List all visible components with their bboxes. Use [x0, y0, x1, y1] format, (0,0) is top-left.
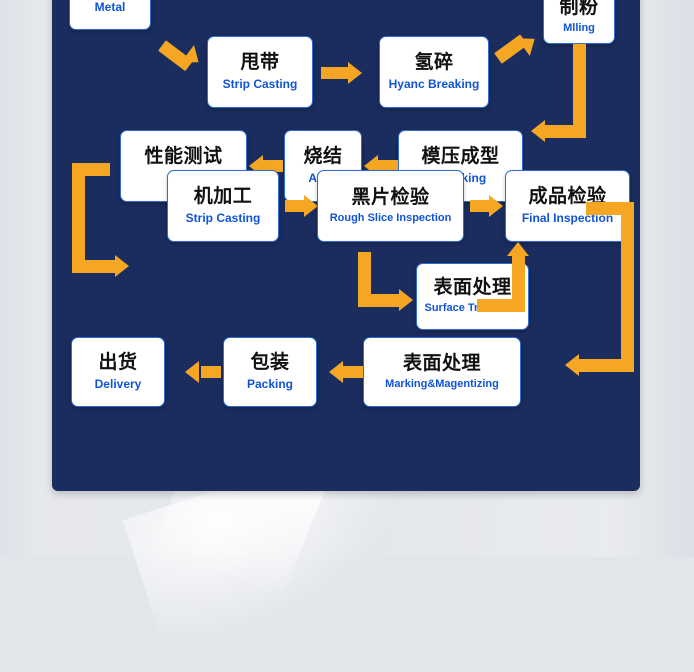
flow-node-strip-casting[interactable]: 甩带 Strip Casting	[207, 36, 313, 108]
arrowhead-icon	[399, 289, 413, 311]
connector-rough-slice-to-final-inspection	[470, 195, 504, 217]
flow-node-hyanc-breaking-en: Hyanc Breaking	[389, 77, 480, 91]
flow-node-marking-cn: 表面处理	[403, 353, 481, 375]
arrowhead-icon	[304, 195, 318, 217]
connector-packing-to-delivery	[185, 361, 221, 383]
connector-surface-treatment-to-final-inspection	[477, 242, 539, 312]
arrowhead-icon	[185, 361, 199, 383]
flow-node-delivery-cn: 出货	[98, 352, 137, 374]
arrowhead-icon	[329, 361, 343, 383]
flow-node-packing[interactable]: 包装 Packing	[223, 337, 317, 407]
flow-node-marking[interactable]: 表面处理 Marking&Magentizing	[363, 337, 521, 407]
connector-metal-to-strip-casting	[160, 33, 210, 73]
flow-node-machining-en: Strip Casting	[186, 211, 261, 225]
flow-node-marking-en: Marking&Magentizing	[385, 378, 499, 391]
flow-node-packing-cn: 包装	[250, 352, 289, 374]
connector-milling-to-breaking	[528, 44, 594, 154]
arrowhead-icon	[489, 195, 503, 217]
flow-node-delivery[interactable]: 出货 Delivery	[71, 337, 165, 407]
flow-node-milling-cn: 制粉	[559, 0, 598, 19]
arrowhead-icon	[531, 120, 545, 142]
flow-node-packing-en: Packing	[247, 377, 293, 391]
arrowhead-icon	[348, 62, 362, 84]
flow-node-strip-casting-en: Strip Casting	[223, 77, 298, 91]
flow-node-rough-slice-cn: 黑片检验	[351, 187, 429, 209]
arrowhead-icon	[115, 255, 129, 277]
arrowhead-icon	[565, 354, 579, 376]
flow-node-rough-slice[interactable]: 黑片检验 Rough Slice Inspection	[317, 170, 464, 242]
connector-performance-test-to-machining	[72, 163, 152, 283]
process-flowchart-panel: 金属 Metal 甩带 Strip Casting 氢碎 Hyanc Break…	[52, 0, 640, 491]
flow-node-metal[interactable]: 金属 Metal	[69, 0, 151, 30]
flow-node-alloy-cn: 烧结	[303, 146, 342, 168]
connector-marking-to-packing	[329, 361, 363, 383]
flow-node-breaking-cn: 模压成型	[421, 146, 499, 168]
flow-node-machining[interactable]: 机加工 Strip Casting	[167, 170, 279, 242]
flow-node-strip-casting-cn: 甩带	[240, 52, 279, 74]
flow-node-performance-test-cn: 性能测试	[144, 146, 222, 168]
connector-final-inspection-to-marking	[546, 202, 640, 377]
backdrop-sheen-streak	[131, 480, 329, 600]
flow-node-hyanc-breaking-cn: 氢碎	[414, 52, 453, 74]
connector-rough-slice-to-surface-treatment	[358, 252, 420, 314]
flow-node-rough-slice-en: Rough Slice Inspection	[330, 212, 452, 225]
connector-strip-casting-to-hyanc-breaking	[321, 62, 371, 84]
arrowhead-icon	[507, 242, 529, 256]
flow-node-milling-en: Mlling	[563, 22, 595, 35]
flow-node-delivery-en: Delivery	[95, 377, 142, 391]
flow-node-metal-en: Metal	[95, 0, 126, 14]
flow-node-hyanc-breaking[interactable]: 氢碎 Hyanc Breaking	[379, 36, 489, 108]
connector-machining-to-rough-slice	[285, 195, 319, 217]
flow-node-milling[interactable]: 制粉 Mlling	[543, 0, 615, 44]
flow-node-machining-cn: 机加工	[194, 186, 253, 208]
